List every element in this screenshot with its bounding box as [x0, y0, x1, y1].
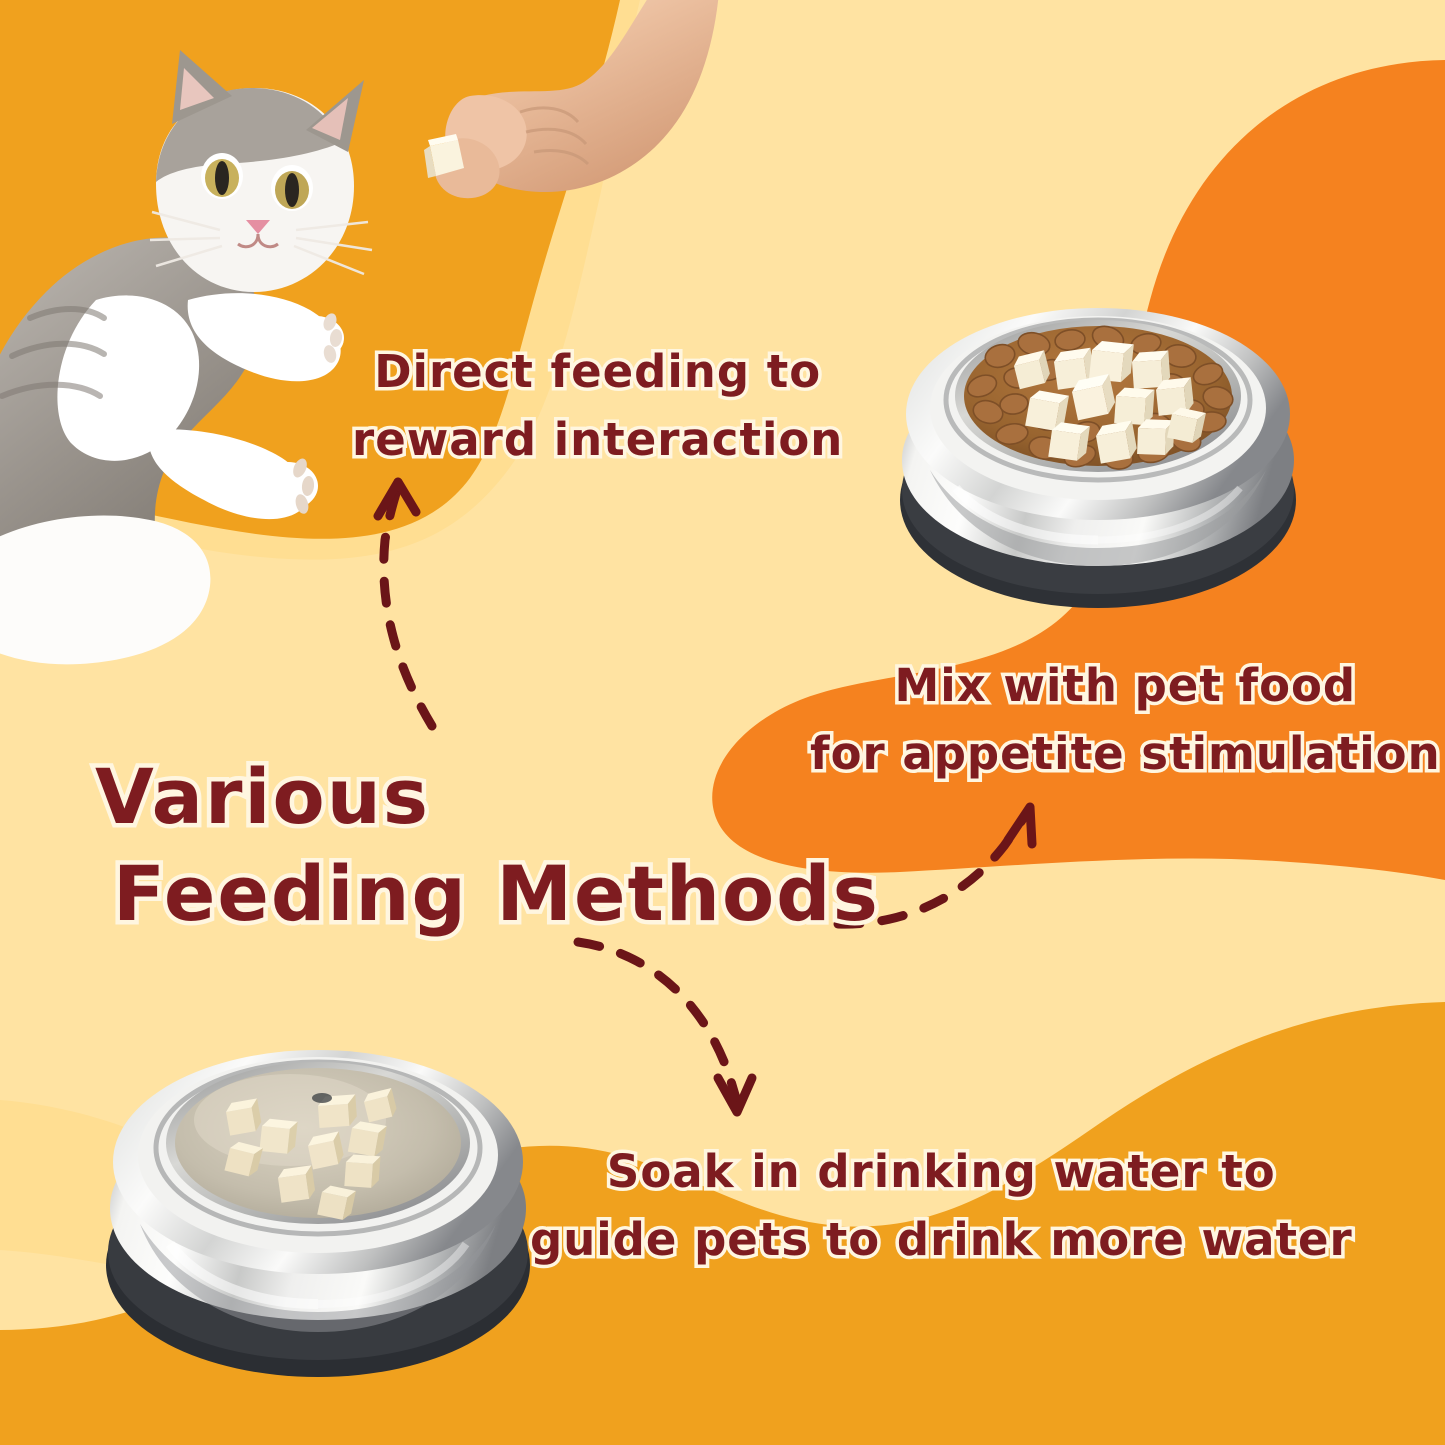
caption-direct-feeding-line-2: reward interaction [352, 406, 843, 474]
caption-soak-in-water: Soak in drinking water to guide pets to … [530, 1138, 1353, 1275]
caption-mix-with-pet-food-line-2: for appetite stimulation [810, 720, 1441, 788]
caption-mix-with-pet-food: Mix with pet food for appetite stimulati… [810, 652, 1441, 789]
caption-soak-in-water-line-1: Soak in drinking water to [530, 1138, 1353, 1206]
caption-mix-with-pet-food-line-1: Mix with pet food [810, 652, 1441, 720]
infographic-poster: Various Feeding Methods Direct feeding t… [0, 0, 1445, 1445]
bowl-with-kibble-and-treats-photo [900, 308, 1296, 608]
page-title-line-2: Feeding Methods [95, 845, 880, 942]
page-title-line-1: Various [95, 748, 880, 845]
caption-soak-in-water-line-2: guide pets to drink more water [530, 1206, 1353, 1274]
bowl-with-water-and-treats-photo [106, 1050, 530, 1377]
caption-direct-feeding: Direct feeding to reward interaction [352, 338, 843, 475]
page-title: Various Feeding Methods [95, 748, 880, 943]
caption-direct-feeding-line-1: Direct feeding to [352, 338, 843, 406]
